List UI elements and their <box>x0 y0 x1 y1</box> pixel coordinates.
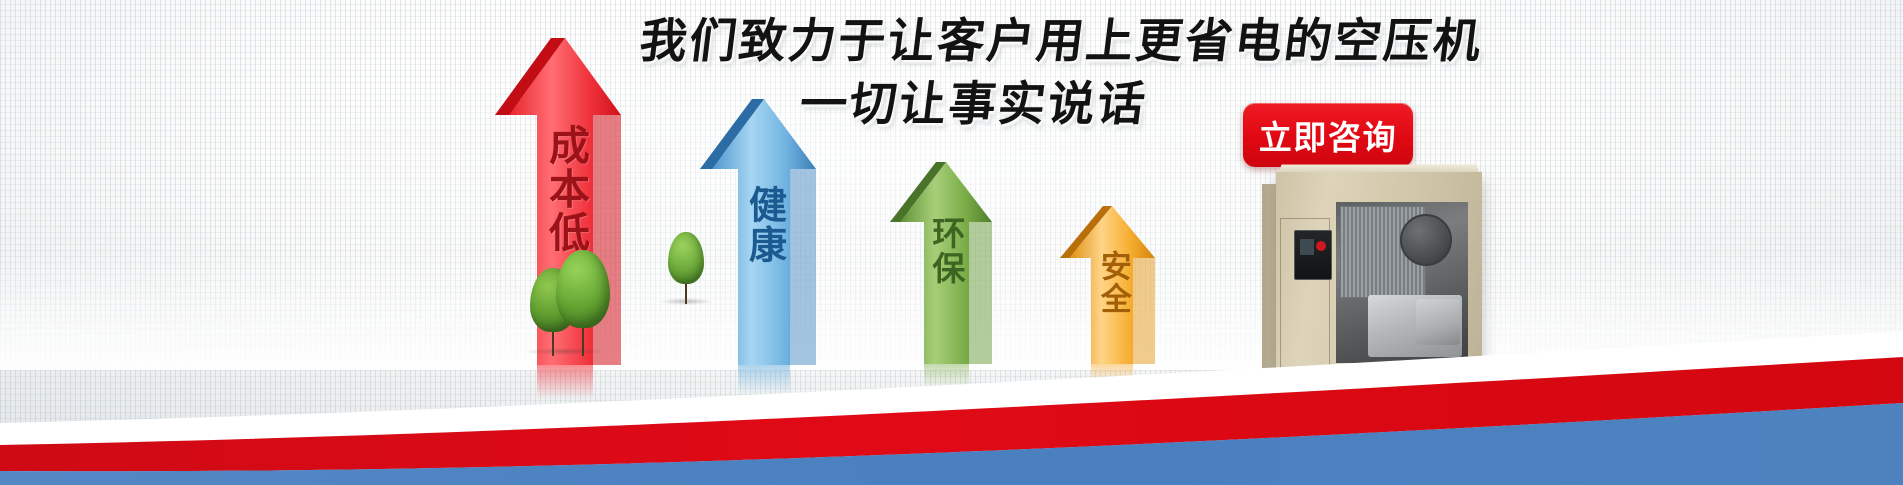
promo-banner: 成本低 健康 <box>0 0 1903 485</box>
bottom-swoosh-decoration <box>0 295 1903 485</box>
headline-line-1: 我们致力于让客户用上更省电的空压机 <box>637 18 1343 65</box>
machine-control-panel <box>1294 230 1332 280</box>
emergency-stop-icon <box>1316 241 1326 251</box>
headline-block: 我们致力于让客户用上更省电的空压机 一切让事实说话 <box>640 18 1340 128</box>
machine-motor <box>1400 214 1452 266</box>
arrow-label-environment: 环保 <box>928 216 964 286</box>
machine-display-screen <box>1300 239 1314 255</box>
arrow-label-cost: 成本低 <box>543 124 586 254</box>
tree-icon-3 <box>668 232 704 304</box>
arrow-label-health: 健康 <box>743 185 784 266</box>
